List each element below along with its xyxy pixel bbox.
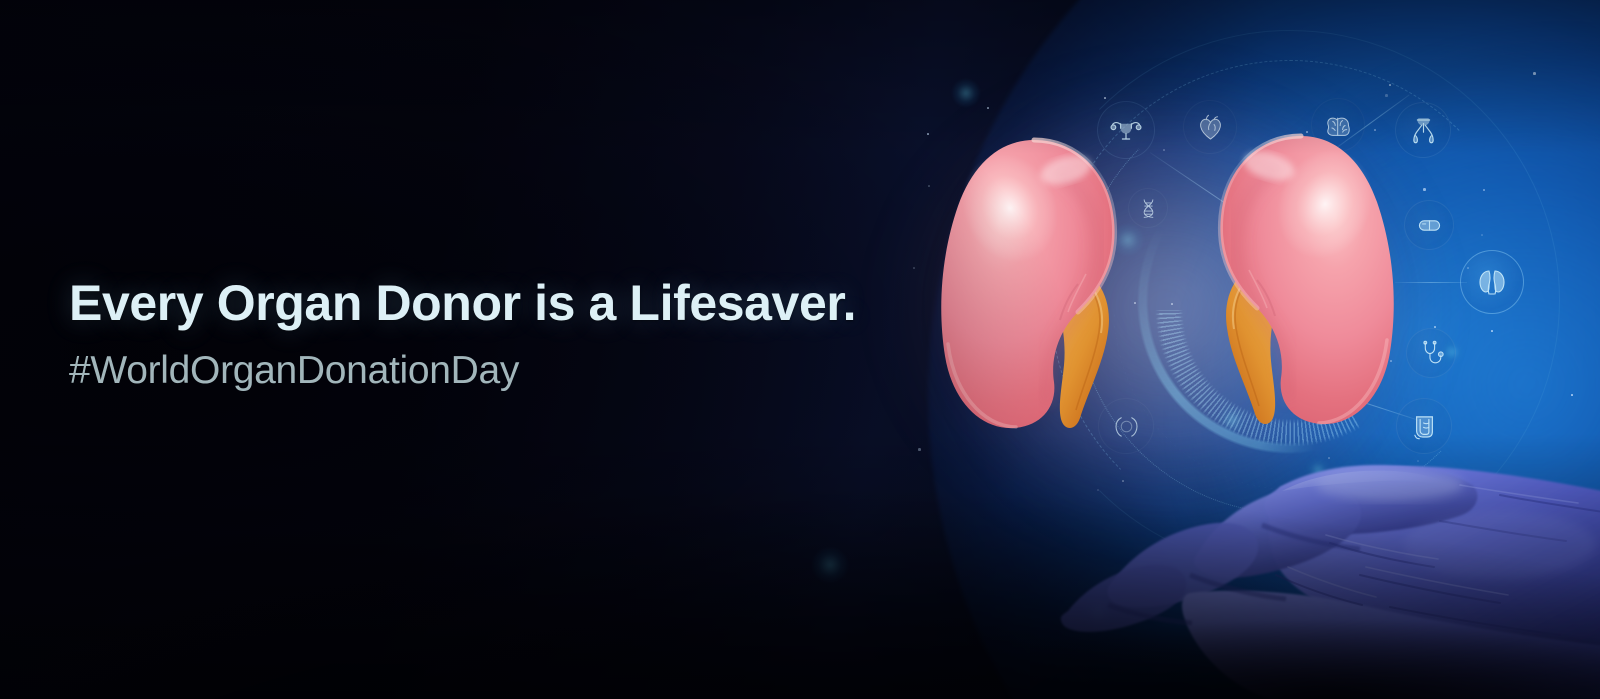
organ-donation-banner: Every Organ Donor is a Lifesaver. #World… (0, 0, 1600, 699)
banner-copy: Every Organ Donor is a Lifesaver. #World… (69, 276, 949, 393)
page-title: Every Organ Donor is a Lifesaver. (69, 276, 949, 330)
hashtag-label: #WorldOrganDonationDay (69, 350, 949, 393)
